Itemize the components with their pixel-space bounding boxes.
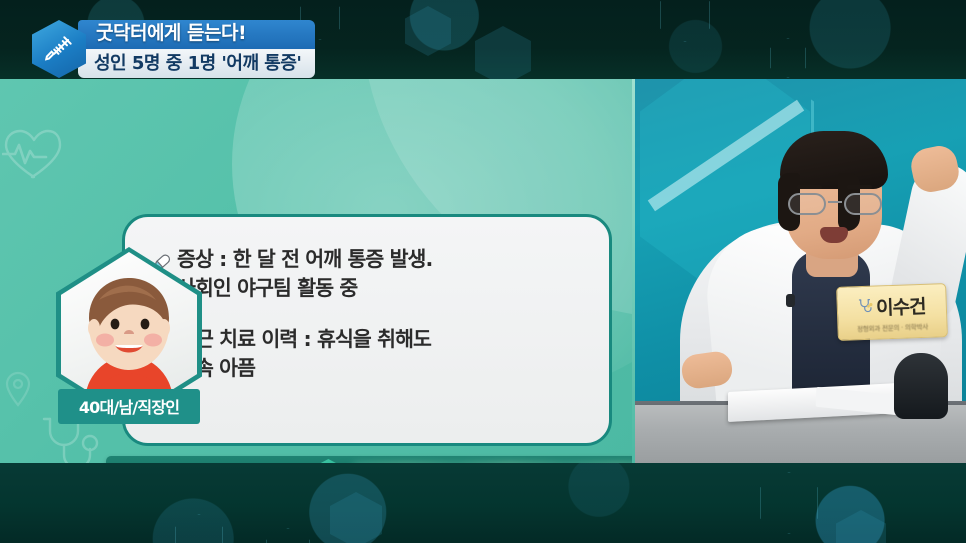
glasses-bridge [828, 201, 842, 203]
case-bullet: 증상 : 한 달 전 어깨 통증 발생. 사회인 야구팀 활동 중 [151, 245, 587, 303]
title-line-1: 굿닥터에게 듣는다! [78, 20, 315, 49]
hexagon-decor [836, 510, 886, 543]
hexagon-decor [330, 492, 382, 543]
lapel-microphone [786, 294, 795, 307]
case-bullet: 최근 치료 이력 : 휴식을 취해도 계속 아픔 [151, 325, 587, 383]
hexagon-decor [475, 26, 531, 86]
doctor-nametag: 이수건 정형외과 전문의 · 의학박사 [836, 283, 948, 341]
broadcast-screen: 굿닥터에게 듣는다! 성인 5명 중 1명 '어깨 통증' [0, 0, 966, 543]
hexagon-decor [405, 6, 451, 56]
eyebrow-left [796, 185, 822, 189]
doctor-name: 이수건 [876, 291, 926, 320]
phone-number-blurred [353, 462, 632, 463]
panel-video-divider [632, 79, 635, 463]
lens-right [844, 193, 882, 215]
eyeglasses [786, 193, 884, 215]
map-pin-icon [4, 371, 32, 407]
case-bullet-text: 증상 : 한 달 전 어깨 통증 발생. 사회인 야구팀 활동 중 [177, 245, 432, 303]
hexagon-decor [770, 38, 806, 78]
hexagon-decor [660, 0, 710, 42]
doctor-credentials: 정형외과 전문의 · 의학박사 [857, 320, 928, 332]
phone-handset-icon [311, 459, 345, 463]
title-text-stack: 굿닥터에게 듣는다! 성인 5명 중 1명 '어깨 통증' [78, 20, 315, 78]
nametag-row: 이수건 [858, 291, 926, 320]
title-line-2: 성인 5명 중 1명 '어깨 통증' [78, 49, 315, 79]
patient-avatar: 40대/남/직장인 [56, 247, 202, 422]
case-bullet-text: 최근 치료 이력 : 휴식을 취해도 계속 아픔 [177, 325, 431, 383]
lens-left [788, 193, 826, 215]
patient-label: 40대/남/직장인 [58, 389, 200, 424]
live-banner-label: 생방송 시청자 참여 [120, 460, 301, 464]
stethoscope-icon [858, 297, 874, 317]
eyebrow-right [846, 185, 872, 189]
hexagon-decor [175, 514, 223, 543]
hexagon-decor [760, 472, 818, 534]
live-participation-banner: 생방송 시청자 참여 [106, 456, 632, 463]
desk-microphone [894, 353, 948, 419]
hexagon-decor [266, 528, 310, 543]
program-title-badge: 굿닥터에게 듣는다! 성인 5명 중 1명 '어깨 통증' [32, 20, 315, 78]
background-bottom-bar [0, 462, 966, 543]
heartbeat-icon [2, 127, 66, 181]
case-info-panel: 증상 : 한 달 전 어깨 통증 발생. 사회인 야구팀 활동 중 최근 치료 … [0, 79, 632, 463]
doctor-video-feed: 이수건 정형외과 전문의 · 의학박사 [632, 79, 966, 463]
